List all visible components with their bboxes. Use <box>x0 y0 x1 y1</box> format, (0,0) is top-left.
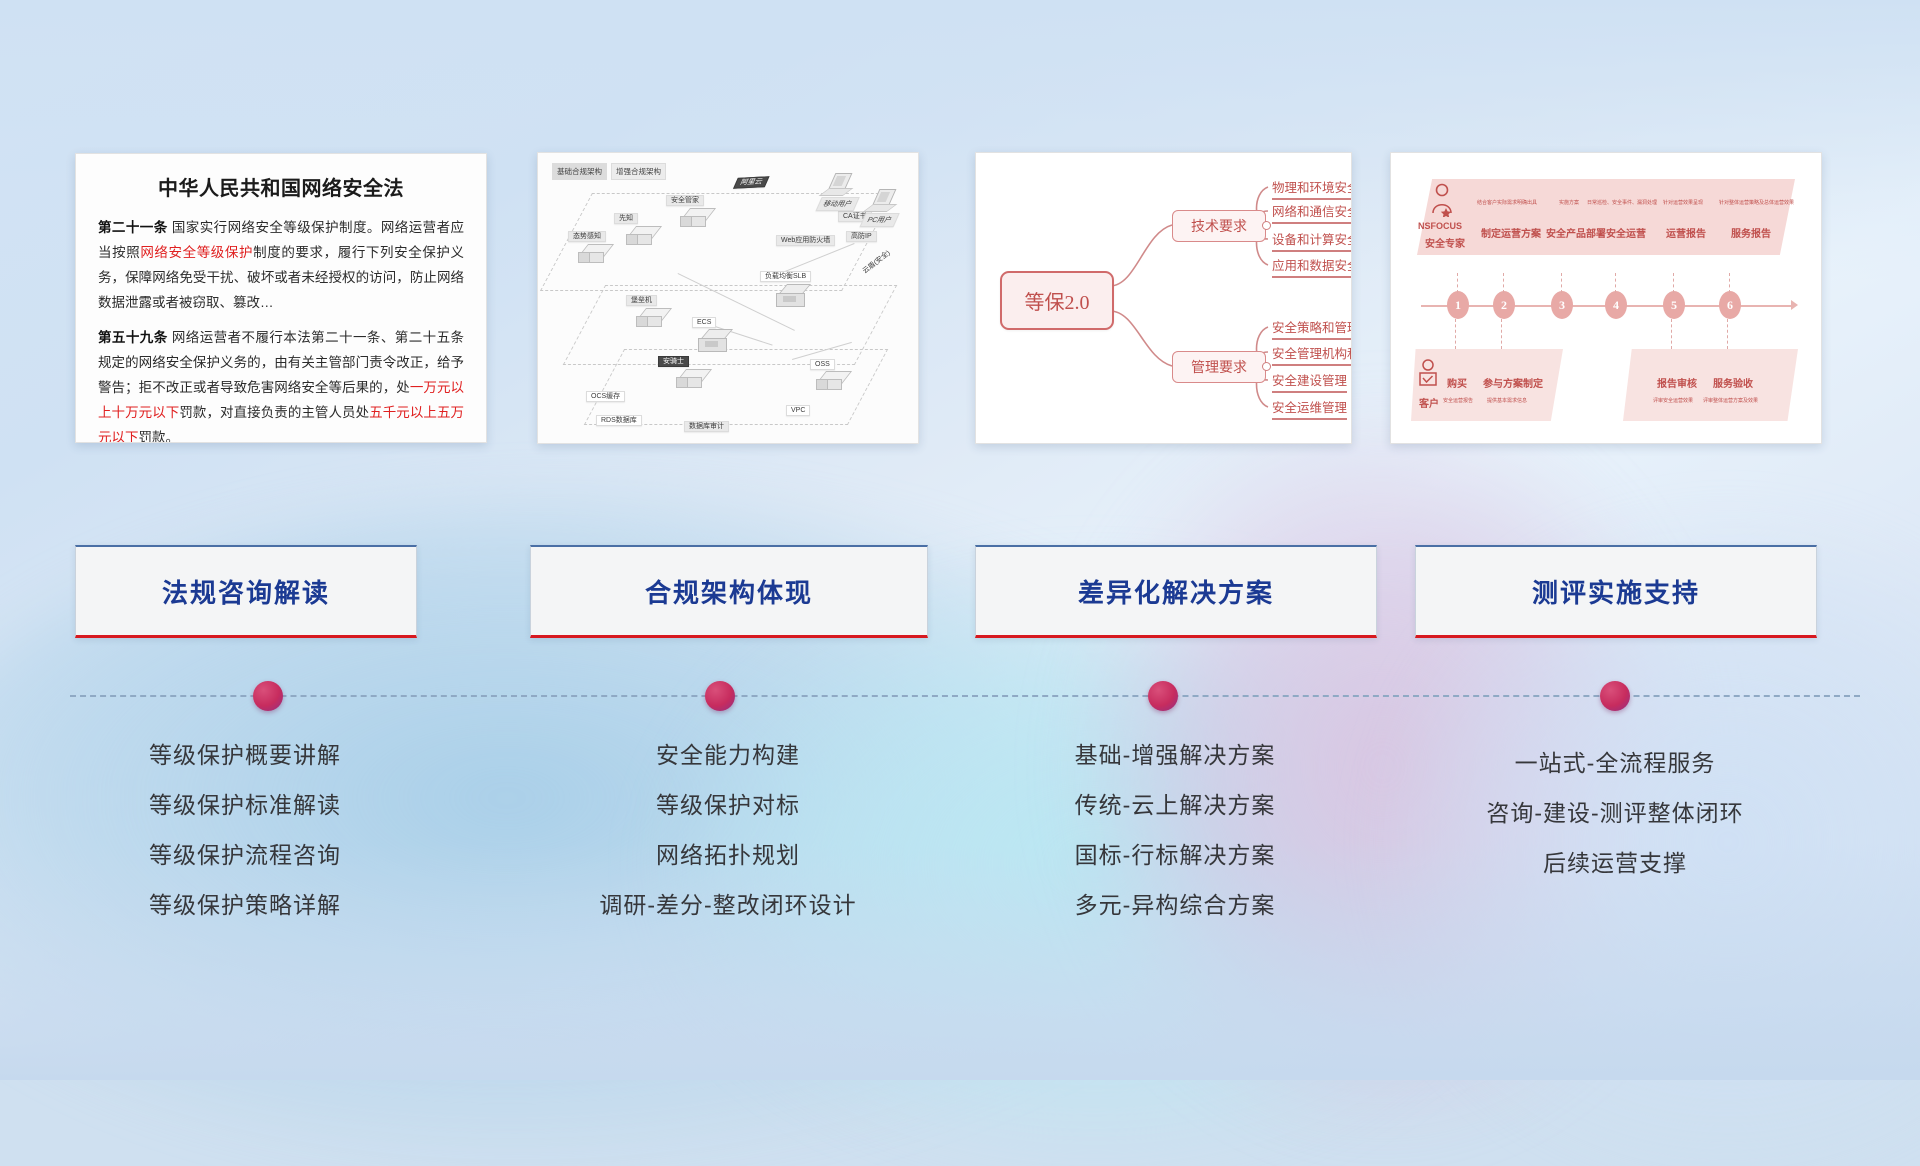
feature-list-3: 基础-增强解决方案 传统-云上解决方案 国标-行标解决方案 多元-异构综合方案 <box>975 730 1375 930</box>
architecture-node-rds: RDS数据库 <box>596 415 642 425</box>
nsfocus-expert-band <box>1417 179 1795 255</box>
mindmap-collapse-dot-management[interactable] <box>1262 362 1271 371</box>
timeline-dashed-line <box>70 695 1860 697</box>
architecture-node-vpc-label: VPC <box>786 405 810 416</box>
law-article-21: 第二十一条 国家实行网络安全等级保护制度。网络运营者应当按照网络安全等级保护制度… <box>98 215 464 315</box>
nsfocus-bottom-title-2: 参与方案制定 <box>1483 375 1543 390</box>
architecture-node-situational-awareness: 态势感知 <box>568 231 606 262</box>
tab-basic-architecture[interactable]: 基础合规架构 <box>552 163 607 180</box>
architecture-node-cloud-shield-label: 云盾(安全) <box>862 250 892 276</box>
architecture-node-aliyun: 阿里云 <box>733 176 769 188</box>
architecture-node-oss: OSS <box>810 361 842 389</box>
expert-person-icon <box>1429 183 1455 217</box>
list-item: 网络拓扑规划 <box>530 830 926 880</box>
architecture-node-mobile-user-label: 移动用户 <box>816 197 860 211</box>
list-item: 国标-行标解决方案 <box>975 830 1375 880</box>
nsfocus-dash-bottom-1 <box>1455 319 1457 349</box>
architecture-node-security-butler: 安全管家 <box>666 195 706 226</box>
architecture-node-xianzhi-label: 先知 <box>614 213 638 224</box>
nsfocus-dash-top-3 <box>1561 273 1563 293</box>
mindmap-branch-technical-label: 技术要求 <box>1191 216 1247 236</box>
mindmap-root-node[interactable]: 等保2.0 <box>1000 271 1114 330</box>
mindmap-leaf-policy-system[interactable]: 安全策略和管理制度 <box>1272 317 1352 340</box>
nsfocus-top-desc-3: 日常巡检、安全事件、漏洞处理 <box>1587 199 1657 206</box>
law-title: 中华人民共和国网络安全法 <box>76 172 486 201</box>
architecture-node-pc-user-label: PC用户 <box>860 213 900 227</box>
list-item: 等级保护流程咨询 <box>75 830 415 880</box>
card-architecture-diagram[interactable]: 基础合规架构 增强合规架构 阿里云 安全管家 先知 <box>537 152 919 444</box>
list-item: 等级保护对标 <box>530 780 926 830</box>
mindmap-leaf-network-comm[interactable]: 网络和通信安全 <box>1272 201 1352 224</box>
heading-label-4: 测评实施支持 <box>1532 573 1700 610</box>
nsfocus-top-desc-5: 针对整体运营策略及总体运营效果 <box>1719 199 1794 206</box>
customer-person-icon <box>1417 359 1439 389</box>
heading-boxes-row: 法规咨询解读 合规架构体现 差异化解决方案 测评实施支持 <box>0 545 1920 645</box>
nsfocus-dash-bottom-6 <box>1727 319 1729 349</box>
heading-box-regulation-consulting[interactable]: 法规咨询解读 <box>75 545 417 638</box>
mindmap-leaf-ops-mgmt[interactable]: 安全运维管理 <box>1272 397 1347 420</box>
nsfocus-top-desc-1: 结合客户实际需求明确出具 <box>1477 199 1537 206</box>
nsfocus-bottom-title-3: 报告审核 <box>1657 375 1697 390</box>
heading-label-1: 法规咨询解读 <box>162 573 330 610</box>
list-item: 安全能力构建 <box>530 730 926 780</box>
nsfocus-step-node-2[interactable]: 2 <box>1493 291 1515 319</box>
law-article-59: 第五十九条 网络运营者不履行本法第二十一条、第二十五条规定的网络安全保护义务的，… <box>98 325 464 443</box>
list-item: 等级保护策略详解 <box>75 880 415 930</box>
mindmap-leaf-app-data[interactable]: 应用和数据安全 <box>1272 255 1352 278</box>
nsfocus-dash-top-4 <box>1615 273 1617 293</box>
nsfocus-bottom-desc-2: 提供基本需求信息 <box>1487 397 1527 404</box>
nsfocus-step-node-6[interactable]: 6 <box>1719 291 1741 319</box>
nsfocus-top-title-2: 安全产品部署 <box>1546 225 1606 240</box>
mindmap-branch-technical[interactable]: 技术要求 <box>1172 210 1266 242</box>
nsfocus-dash-top-5 <box>1673 273 1675 293</box>
architecture-node-oss-label: OSS <box>810 359 835 370</box>
nsfocus-step-node-5[interactable]: 5 <box>1663 291 1685 319</box>
feature-list-2: 安全能力构建 等级保护对标 网络拓扑规划 调研-差分-整改闭环设计 <box>530 730 926 930</box>
nsfocus-expert-title: NSFOCUS <box>1418 221 1462 231</box>
architecture-node-slb-label: 负载均衡SLB <box>760 271 811 282</box>
list-item: 后续运营支撑 <box>1415 838 1815 888</box>
heading-box-evaluation-support[interactable]: 测评实施支持 <box>1415 545 1817 638</box>
architecture-node-waf: Web应用防火墙 <box>776 235 835 245</box>
architecture-node-slb: 负载均衡SLB <box>760 271 811 306</box>
architecture-node-bastion-label: 堡垒机 <box>626 295 657 306</box>
mindmap-leaf-physical-env[interactable]: 物理和环境安全 <box>1272 177 1352 200</box>
architecture-node-db-audit-label: 数据库审计 <box>684 421 729 432</box>
list-item: 咨询-建设-测评整体闭环 <box>1415 788 1815 838</box>
architecture-node-xianzhi: 先知 <box>614 213 652 244</box>
list-item: 调研-差分-整改闭环设计 <box>530 880 926 930</box>
nsfocus-customer-label: 客户 <box>1419 395 1439 410</box>
heading-label-3: 差异化解决方案 <box>1078 573 1274 610</box>
nsfocus-top-title-5: 服务报告 <box>1731 225 1771 240</box>
list-item: 等级保护标准解读 <box>75 780 415 830</box>
nsfocus-dash-bottom-2 <box>1501 319 1503 349</box>
nsfocus-top-desc-4: 针对运营效果呈现 <box>1663 199 1703 206</box>
timeline-dot-4[interactable] <box>1600 681 1630 711</box>
nsfocus-top-title-1: 制定运营方案 <box>1481 225 1541 240</box>
law-article-59-label: 第五十九条 <box>98 330 168 345</box>
architecture-node-vpc: VPC <box>786 407 810 414</box>
list-item: 基础-增强解决方案 <box>975 730 1375 780</box>
architecture-node-ecs-label: ECS <box>692 317 716 328</box>
nsfocus-dash-top-1 <box>1457 273 1459 293</box>
law-article-59-text-2: 罚款，对直接负责的主管人员处 <box>179 405 369 420</box>
nsfocus-timeline-arrow-icon <box>1791 300 1798 310</box>
nsfocus-bottom-title-4: 服务验收 <box>1713 375 1753 390</box>
architecture-node-bastion: 堡垒机 <box>626 295 662 326</box>
law-article-21-label: 第二十一条 <box>98 220 168 235</box>
card-law-text[interactable]: 中华人民共和国网络安全法 第二十一条 国家实行网络安全等级保护制度。网络运营者应… <box>75 153 487 443</box>
card-nsfocus-process[interactable]: NSFOCUS 安全专家 结合客户实际需求明确出具 制定运营方案 实施方案 安全… <box>1390 152 1822 444</box>
architecture-canvas: 基础合规架构 增强合规架构 阿里云 安全管家 先知 <box>538 153 918 443</box>
mindmap-canvas: 等保2.0 技术要求 物理和环境安全 网络和通信安全 设备和计算安全 应用和数据… <box>976 153 1351 443</box>
architecture-node-ocs-cache-label: OCS缓存 <box>586 391 625 402</box>
nsfocus-dash-top-2 <box>1503 273 1505 293</box>
nsfocus-expert-sub: 安全专家 <box>1425 235 1465 250</box>
architecture-node-aliyun-label: 阿里云 <box>733 176 770 189</box>
nsfocus-customer-band-right <box>1623 349 1798 421</box>
nsfocus-step-node-3[interactable]: 3 <box>1551 291 1573 319</box>
timeline-dot-2[interactable] <box>705 681 735 711</box>
architecture-node-situational-awareness-label: 态势感知 <box>568 231 606 242</box>
mindmap-leaf-device-compute[interactable]: 设备和计算安全 <box>1272 229 1352 252</box>
mindmap-branch-management[interactable]: 管理要求 <box>1172 351 1266 383</box>
architecture-node-security-butler-label: 安全管家 <box>666 195 704 206</box>
card-mindmap[interactable]: 等保2.0 技术要求 物理和环境安全 网络和通信安全 设备和计算安全 应用和数据… <box>975 152 1352 444</box>
architecture-node-waf-label: Web应用防火墙 <box>776 235 835 246</box>
list-item: 一站式-全流程服务 <box>1415 738 1815 788</box>
timeline-dot-1[interactable] <box>253 681 283 711</box>
mindmap-branch-management-label: 管理要求 <box>1191 357 1247 377</box>
timeline-connector <box>0 660 1920 720</box>
cards-row: 中华人民共和国网络安全法 第二十一条 国家实行网络安全等级保护制度。网络运营者应… <box>0 150 1920 440</box>
heading-box-compliance-architecture[interactable]: 合规架构体现 <box>530 545 928 638</box>
nsfocus-top-title-4: 运营报告 <box>1666 225 1706 240</box>
nsfocus-dash-bottom-5 <box>1671 319 1673 349</box>
heading-label-2: 合规架构体现 <box>645 573 813 610</box>
mindmap-root-label: 等保2.0 <box>1025 286 1090 315</box>
architecture-node-ocs-cache: OCS缓存 <box>586 391 625 401</box>
list-item: 多元-异构综合方案 <box>975 880 1375 930</box>
architecture-node-rds-label: RDS数据库 <box>596 415 642 426</box>
nsfocus-bottom-title-1: 购买 <box>1447 375 1467 390</box>
mindmap-leaf-org-personnel[interactable]: 安全管理机构和人员 <box>1272 343 1352 366</box>
nsfocus-canvas: NSFOCUS 安全专家 结合客户实际需求明确出具 制定运营方案 实施方案 安全… <box>1391 153 1821 443</box>
architecture-tabs[interactable]: 基础合规架构 增强合规架构 <box>552 163 666 180</box>
feature-list-4: 一站式-全流程服务 咨询-建设-测评整体闭环 后续运营支撑 <box>1415 730 1815 888</box>
architecture-region-bottom <box>584 349 888 425</box>
law-article-59-text-3: 罚款。 <box>139 430 180 443</box>
architecture-node-anti-ddos-label: 高防IP <box>846 231 877 242</box>
nsfocus-step-node-1[interactable]: 1 <box>1447 291 1469 319</box>
architecture-node-anqishi-label: 安骑士 <box>658 356 689 367</box>
architecture-node-anqishi: 安骑士 <box>658 356 702 387</box>
heading-box-differentiated-solution[interactable]: 差异化解决方案 <box>975 545 1377 638</box>
nsfocus-bottom-desc-1: 安全运营报告 <box>1443 397 1473 404</box>
feature-list-1: 等级保护概要讲解 等级保护标准解读 等级保护流程咨询 等级保护策略详解 <box>75 730 415 930</box>
feature-lists-row: 等级保护概要讲解 等级保护标准解读 等级保护流程咨询 等级保护策略详解 安全能力… <box>0 730 1920 950</box>
nsfocus-bottom-desc-4: 评审整体运营方案及效果 <box>1703 397 1758 404</box>
architecture-node-db-audit: 数据库审计 <box>684 421 729 431</box>
architecture-node-ecs: ECS <box>692 319 728 351</box>
tab-enhanced-architecture[interactable]: 增强合规架构 <box>611 163 666 180</box>
law-article-21-highlight: 网络安全等级保护 <box>140 245 253 260</box>
nsfocus-bottom-desc-3: 评审安全运营效果 <box>1653 397 1693 404</box>
architecture-node-cloud-shield: 云盾(安全) <box>860 248 892 276</box>
nsfocus-dash-top-6 <box>1729 273 1731 293</box>
nsfocus-top-title-3: 安全运营 <box>1606 225 1646 240</box>
timeline-dot-3[interactable] <box>1148 681 1178 711</box>
nsfocus-step-node-4[interactable]: 4 <box>1605 291 1627 319</box>
list-item: 等级保护概要讲解 <box>75 730 415 780</box>
nsfocus-top-desc-2: 实施方案 <box>1559 199 1579 206</box>
mindmap-collapse-dot-technical[interactable] <box>1262 221 1271 230</box>
mindmap-leaf-construction-mgmt[interactable]: 安全建设管理 <box>1272 370 1347 393</box>
architecture-node-anti-ddos: 高防IP <box>846 231 877 241</box>
list-item: 传统-云上解决方案 <box>975 780 1375 830</box>
